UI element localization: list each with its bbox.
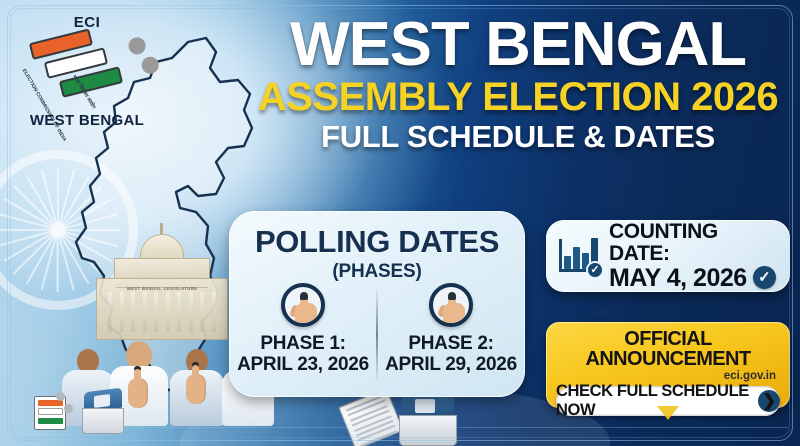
phase-1-label: PHASE 1: [229, 333, 377, 354]
ballot-paper-icon [34, 396, 66, 430]
polling-dates-title: POLLING DATES [229, 224, 525, 260]
inked-finger-hand [186, 374, 206, 404]
bar-chart-icon: ✓ [556, 235, 602, 277]
logo-dot-upper [127, 36, 148, 57]
finger-ink-mark [300, 292, 308, 300]
headline-secondary: ASSEMBLY ELECTION 2026 [248, 77, 788, 117]
evm-screen [94, 394, 110, 408]
phase-1-date: APRIL 23, 2026 [229, 354, 377, 375]
election-schedule-poster: WEST BENGAL LEGISLATURE [0, 0, 800, 446]
counting-date-value: MAY 4, 2026 [609, 265, 747, 291]
chart-bar [564, 256, 571, 269]
headline-block: WEST BENGAL ASSEMBLY ELECTION 2026 FULL … [248, 16, 788, 152]
counting-date-card: ✓ COUNTING DATE: MAY 4, 2026 ✓ [546, 220, 790, 292]
chart-bar [573, 247, 580, 269]
polling-dates-subtitle: (PHASES) [229, 261, 525, 283]
phase-2-label: PHASE 2: [377, 333, 525, 354]
ballot-marker-dot [56, 392, 65, 401]
evm-machine-icon-left [80, 390, 126, 436]
evm-screen [415, 399, 435, 413]
evm-body [399, 415, 457, 446]
announcement-url[interactable]: eci.gov.in [556, 370, 780, 382]
phase-2-item: PHASE 2: APRIL 29, 2026 [377, 283, 525, 376]
inked-finger-hand [128, 378, 148, 408]
inked-finger-icon [429, 283, 473, 327]
counting-date-value-row: MAY 4, 2026 ✓ [609, 265, 780, 291]
phase-2-date: APRIL 29, 2026 [377, 354, 525, 375]
building-label: WEST BENGAL LEGISLATURE [106, 286, 218, 291]
official-announcement-card[interactable]: OFFICIAL ANNOUNCEMENT eci.gov.in CHECK F… [546, 322, 790, 408]
voter-slip-icon [34, 392, 74, 434]
chevron-right-icon: ❯ [758, 390, 780, 412]
eci-logo: ECI ELECTION COMMISSION OF INDIA भारत नि… [22, 6, 152, 138]
voter-figure [170, 349, 224, 426]
headline-primary: WEST BENGAL [243, 16, 794, 74]
counting-date-text: COUNTING DATE: MAY 4, 2026 ✓ [609, 221, 780, 291]
eci-state-name: WEST BENGAL [22, 112, 152, 129]
inked-finger-icon [281, 283, 325, 327]
counting-check-icon: ✓ [753, 266, 776, 289]
phase-1-item: PHASE 1: APRIL 23, 2026 [229, 283, 377, 376]
headline-tertiary: FULL SCHEDULE & DATES [248, 121, 788, 152]
voter-head [126, 341, 152, 369]
ballot-marker-dot [64, 404, 73, 413]
evm-body [82, 408, 124, 434]
counting-date-label: COUNTING DATE: [609, 221, 780, 265]
chart-y-axis [559, 239, 562, 272]
announcement-pointer-tail [657, 406, 679, 420]
finger-ink-mark [448, 292, 456, 300]
polling-dates-card: POLLING DATES (PHASES) PHASE 1: APRIL 23… [229, 211, 525, 397]
evm-machine-icon-center [398, 393, 460, 446]
announcement-title: OFFICIAL ANNOUNCEMENT [556, 329, 780, 369]
chart-check-badge-icon: ✓ [586, 261, 604, 279]
phase-list: PHASE 1: APRIL 23, 2026 PHASE 2: APRIL 2… [229, 283, 525, 376]
check-full-schedule-label: CHECK FULL SCHEDULE NOW [556, 382, 750, 420]
